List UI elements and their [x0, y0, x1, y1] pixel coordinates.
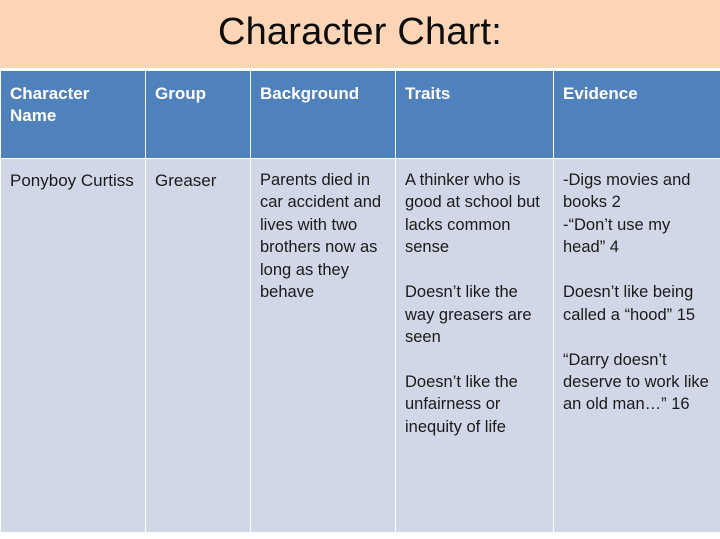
cell-traits: A thinker who is good at school but lack…: [396, 159, 554, 535]
column-header-evidence-label: Evidence: [554, 71, 720, 105]
column-header-background: Background: [251, 71, 396, 159]
column-header-group: Group: [146, 71, 251, 159]
cell-group-value: Greaser: [146, 159, 250, 192]
column-header-group-label: Group: [146, 71, 250, 105]
table-header: Character Name Group Background Traits E…: [1, 71, 720, 159]
cell-background: Parents died in car accident and lives w…: [251, 159, 396, 535]
slide-bottom-margin: [0, 532, 720, 539]
cell-traits-value: A thinker who is good at school but lack…: [396, 159, 553, 438]
column-header-background-label: Background: [251, 71, 395, 105]
column-header-character-name-label: Character Name: [1, 71, 145, 128]
table-body: Ponyboy Curtiss Greaser Parents died in …: [1, 159, 720, 535]
cell-evidence: -Digs movies and books 2 -“Don’t use my …: [554, 159, 720, 535]
column-header-character-name: Character Name: [1, 71, 146, 159]
character-chart-table: Character Name Group Background Traits E…: [0, 70, 720, 535]
table-header-row: Character Name Group Background Traits E…: [1, 71, 720, 159]
column-header-traits-label: Traits: [396, 71, 553, 105]
cell-character-name-value: Ponyboy Curtiss: [1, 159, 145, 192]
title-band: Character Chart:: [0, 0, 720, 68]
cell-background-value: Parents died in car accident and lives w…: [251, 159, 395, 304]
column-header-traits: Traits: [396, 71, 554, 159]
character-chart-slide: Character Chart: Character Name Group Ba…: [0, 0, 720, 539]
column-header-evidence: Evidence: [554, 71, 720, 159]
cell-character-name: Ponyboy Curtiss: [1, 159, 146, 535]
cell-evidence-value: -Digs movies and books 2 -“Don’t use my …: [554, 159, 720, 416]
table-row: Ponyboy Curtiss Greaser Parents died in …: [1, 159, 720, 535]
page-title: Character Chart:: [218, 13, 502, 55]
cell-group: Greaser: [146, 159, 251, 535]
